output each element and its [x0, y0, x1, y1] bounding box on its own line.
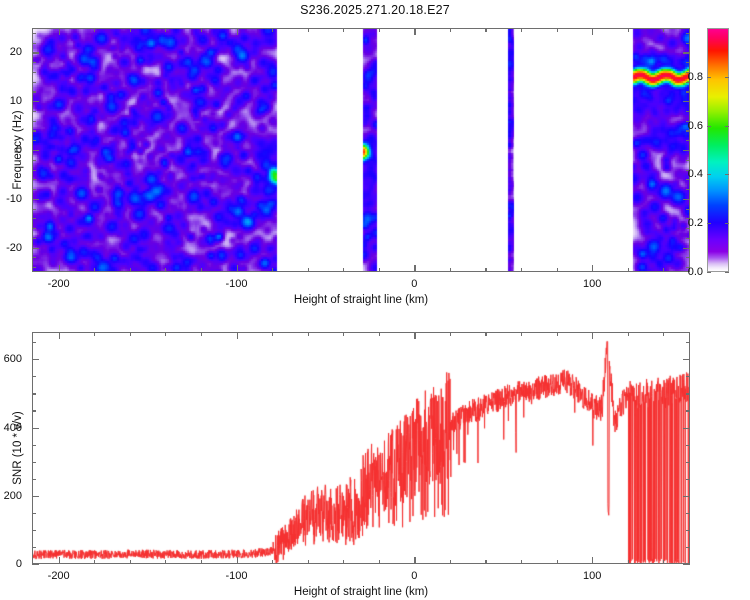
snr-y-tick-label: 0 [0, 558, 22, 570]
spectrogram-panel [32, 28, 690, 272]
spectrogram-x-tick-label: 0 [411, 278, 417, 290]
spectrogram-x-tick-label: -200 [48, 278, 70, 290]
spectrogram-x-axis-title: Height of straight line (km) [294, 294, 428, 306]
colorbar-tick-label: 0.2 [681, 217, 703, 229]
figure-root: S236.2025.271.20.18.E27 -200-10001002010… [0, 0, 750, 600]
snr-y-axis-title: SNR (10 * v/v) [12, 411, 24, 485]
spectrogram-image [33, 29, 689, 271]
spectrogram-y-tick-label: 20 [0, 46, 22, 58]
spectrogram-x-tick-label: 100 [583, 278, 601, 290]
snr-x-tick-label: 0 [411, 570, 417, 582]
snr-trace [33, 333, 689, 563]
spectrogram-y-tick-label: -20 [0, 242, 22, 254]
figure-title: S236.2025.271.20.18.E27 [0, 3, 750, 17]
colorbar-tick-label: 0.4 [681, 168, 703, 180]
colorbar [707, 28, 729, 272]
snr-x-tick-label: 100 [583, 570, 601, 582]
snr-panel [32, 332, 690, 564]
spectrogram-surface [33, 29, 689, 271]
snr-y-tick-label: 600 [0, 353, 22, 365]
snr-x-tick-label: -100 [225, 570, 247, 582]
spectrogram-y-tick-label: 10 [0, 95, 22, 107]
spectrogram-y-axis-title: Frequency (Hz) [12, 110, 24, 189]
snr-surface [33, 333, 689, 563]
spectrogram-y-tick-label: -10 [0, 193, 22, 205]
snr-x-tick-label: -200 [48, 570, 70, 582]
colorbar-tick-label: 0.6 [681, 120, 703, 132]
spectrogram-x-tick-label: -100 [225, 278, 247, 290]
colorbar-tick-label: 0.8 [681, 71, 703, 83]
snr-x-axis-title: Height of straight line (km) [294, 586, 428, 598]
colorbar-tick-label: 0.0 [681, 266, 703, 278]
snr-y-tick-label: 200 [0, 490, 22, 502]
